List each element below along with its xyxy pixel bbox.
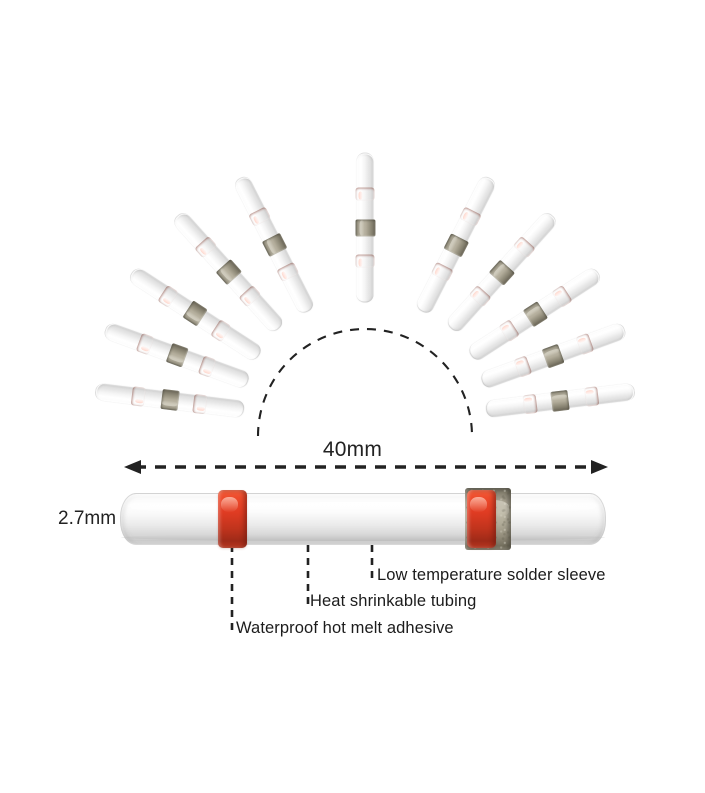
length-arrow-head-left [124,460,141,474]
fan-connector [233,176,315,316]
waterproof-hot-melt-adhesive-ring-left [218,490,247,548]
main-product-illustration [120,493,606,545]
waterproof-hot-melt-adhesive-ring-right [131,386,146,406]
callout-label-waterproof-hot-melt-adhesive: Waterproof hot melt adhesive [236,619,454,638]
fan-connector [105,322,252,389]
low-temperature-solder-sleeve-ring [183,301,208,327]
waterproof-hot-melt-adhesive-ring-left [468,285,491,307]
waterproof-hot-melt-adhesive-ring-left [523,393,538,413]
waterproof-hot-melt-adhesive-ring-left [239,285,262,307]
waterproof-hot-melt-adhesive-ring-right [195,236,218,258]
low-temperature-solder-sleeve-ring [216,260,242,286]
low-temperature-solder-sleeve-ring [550,389,569,411]
diameter-dimension-label: 2.7mm [58,508,116,530]
heat-shrinkable-tubing-body [466,267,601,363]
callout-label-low-temperature-solder-sleeve: Low temperature solder sleeve [377,566,606,585]
low-temperature-solder-sleeve-ring [488,260,514,286]
low-temperature-solder-sleeve-ring [522,301,547,327]
fan-connector [129,267,264,363]
waterproof-hot-melt-adhesive-ring-left [276,262,299,282]
heat-shrinkable-tubing-body [120,493,606,545]
waterproof-hot-melt-adhesive-ring-right [459,207,482,227]
waterproof-hot-melt-adhesive-ring-left [211,319,232,342]
low-temperature-solder-sleeve-ring [355,220,375,237]
fan-connector [485,383,634,418]
waterproof-hot-melt-adhesive-ring-right [575,333,594,355]
heat-shrinkable-tubing-body [233,176,315,316]
heat-shrinkable-tubing-body [485,383,634,418]
low-temperature-solder-sleeve-ring [541,344,564,369]
product-diagram-canvas: 40mm 2.7mm Low temperature solder sleeve… [0,0,705,793]
waterproof-hot-melt-adhesive-ring-right [356,187,375,200]
waterproof-hot-melt-adhesive-ring-left [356,254,375,267]
length-dimension-label: 40mm [0,438,705,462]
waterproof-hot-melt-adhesive-ring-left [513,356,532,378]
waterproof-hot-melt-adhesive-ring-left [198,356,217,378]
waterproof-hot-melt-adhesive-ring-right [158,285,179,308]
heat-shrinkable-tubing-body [96,383,245,418]
length-arrow-head-right [591,460,608,474]
callout-label-heat-shrinkable-tubing: Heat shrinkable tubing [310,592,476,611]
heat-shrinkable-tubing-body [357,154,374,302]
heat-shrinkable-tubing-body [129,267,264,363]
fan-connector [415,176,497,316]
fan-connector [466,267,601,363]
waterproof-hot-melt-adhesive-ring-right [584,386,599,406]
low-temperature-solder-sleeve-ring [261,234,287,258]
waterproof-hot-melt-adhesive-ring-left [431,262,454,282]
low-temperature-solder-sleeve-ring [167,344,190,369]
fan-connector [444,212,557,335]
low-temperature-solder-sleeve-ring [161,389,180,411]
waterproof-hot-melt-adhesive-ring-right [551,285,572,308]
fan-connector [173,212,286,335]
heat-shrinkable-tubing-body [479,322,626,389]
waterproof-hot-melt-adhesive-ring-right [248,207,271,227]
fan-connector [96,383,245,418]
fan-connector [357,154,374,302]
waterproof-hot-melt-adhesive-ring-right [513,236,536,258]
length-dimension-arrow [124,460,608,474]
heat-shrinkable-tubing-body [173,212,286,335]
waterproof-hot-melt-adhesive-ring-left [498,319,519,342]
heat-shrinkable-tubing-body [444,212,557,335]
fan-connector [479,322,626,389]
heat-shrinkable-tubing-body [415,176,497,316]
waterproof-hot-melt-adhesive-ring-right [467,490,496,548]
connector-fan-group [0,0,705,430]
low-temperature-solder-sleeve-ring [443,234,469,258]
waterproof-hot-melt-adhesive-ring-right [136,333,155,355]
waterproof-hot-melt-adhesive-ring-left [192,393,207,413]
heat-shrinkable-tubing-body [105,322,252,389]
